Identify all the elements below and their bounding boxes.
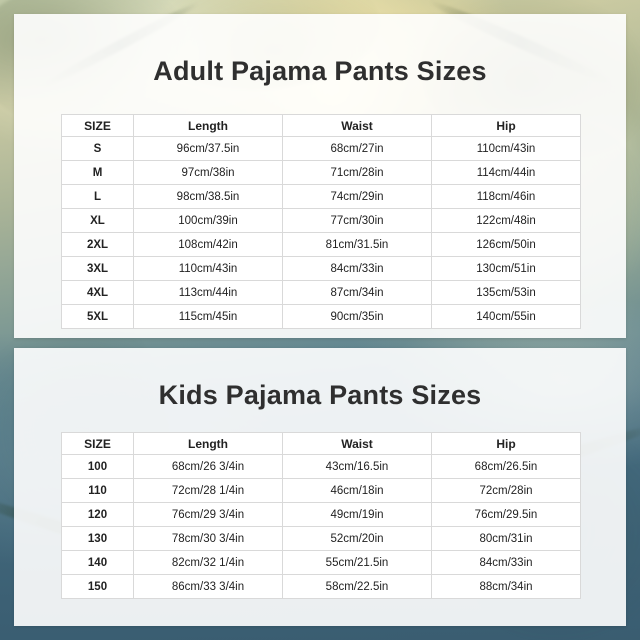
cell-length: 76cm/29 3/4in [134,503,283,527]
cell-size: 2XL [62,233,134,257]
adult-panel-title: Adult Pajama Pants Sizes [14,56,626,87]
kids-panel-title: Kids Pajama Pants Sizes [14,380,626,411]
cell-size: 110 [62,479,134,503]
cell-length: 98cm/38.5in [134,185,283,209]
cell-length: 82cm/32 1/4in [134,551,283,575]
adult-size-panel: Adult Pajama Pants Sizes SIZE Length Wai… [14,14,626,338]
cell-waist: 43cm/16.5in [283,455,432,479]
cell-size: 4XL [62,281,134,305]
column-header-size: SIZE [62,115,134,137]
column-header-size: SIZE [62,433,134,455]
table-row: L 98cm/38.5in 74cm/29in 118cm/46in [62,185,581,209]
cell-length: 108cm/42in [134,233,283,257]
cell-waist: 46cm/18in [283,479,432,503]
table-row: 150 86cm/33 3/4in 58cm/22.5in 88cm/34in [62,575,581,599]
column-header-waist: Waist [283,115,432,137]
cell-size: M [62,161,134,185]
cell-waist: 74cm/29in [283,185,432,209]
cell-length: 113cm/44in [134,281,283,305]
cell-size: 140 [62,551,134,575]
table-row: 130 78cm/30 3/4in 52cm/20in 80cm/31in [62,527,581,551]
column-header-hip: Hip [432,433,581,455]
cell-length: 78cm/30 3/4in [134,527,283,551]
table-row: 4XL 113cm/44in 87cm/34in 135cm/53in [62,281,581,305]
cell-size: L [62,185,134,209]
cell-hip: 80cm/31in [432,527,581,551]
cell-size: 5XL [62,305,134,329]
cell-hip: 88cm/34in [432,575,581,599]
cell-waist: 90cm/35in [283,305,432,329]
size-chart-page: Adult Pajama Pants Sizes SIZE Length Wai… [0,0,640,640]
table-row: 120 76cm/29 3/4in 49cm/19in 76cm/29.5in [62,503,581,527]
cell-waist: 55cm/21.5in [283,551,432,575]
table-row: 110 72cm/28 1/4in 46cm/18in 72cm/28in [62,479,581,503]
cell-length: 97cm/38in [134,161,283,185]
cell-hip: 72cm/28in [432,479,581,503]
table-row: XL 100cm/39in 77cm/30in 122cm/48in [62,209,581,233]
column-header-length: Length [134,115,283,137]
table-row: S 96cm/37.5in 68cm/27in 110cm/43in [62,137,581,161]
cell-waist: 52cm/20in [283,527,432,551]
table-row: 5XL 115cm/45in 90cm/35in 140cm/55in [62,305,581,329]
table-row: 2XL 108cm/42in 81cm/31.5in 126cm/50in [62,233,581,257]
cell-length: 110cm/43in [134,257,283,281]
cell-waist: 49cm/19in [283,503,432,527]
table-row: M 97cm/38in 71cm/28in 114cm/44in [62,161,581,185]
cell-length: 72cm/28 1/4in [134,479,283,503]
cell-length: 100cm/39in [134,209,283,233]
cell-hip: 84cm/33in [432,551,581,575]
kids-size-panel: Kids Pajama Pants Sizes SIZE Length Wais… [14,348,626,626]
adult-size-table: SIZE Length Waist Hip S 96cm/37.5in 68cm… [61,114,581,329]
cell-size: 150 [62,575,134,599]
cell-size: 3XL [62,257,134,281]
cell-length: 115cm/45in [134,305,283,329]
cell-hip: 118cm/46in [432,185,581,209]
cell-hip: 68cm/26.5in [432,455,581,479]
cell-size: XL [62,209,134,233]
table-header-row: SIZE Length Waist Hip [62,115,581,137]
cell-hip: 130cm/51in [432,257,581,281]
cell-waist: 87cm/34in [283,281,432,305]
kids-size-table: SIZE Length Waist Hip 100 68cm/26 3/4in … [61,432,581,599]
cell-hip: 122cm/48in [432,209,581,233]
column-header-waist: Waist [283,433,432,455]
cell-hip: 135cm/53in [432,281,581,305]
table-header-row: SIZE Length Waist Hip [62,433,581,455]
cell-hip: 114cm/44in [432,161,581,185]
cell-hip: 126cm/50in [432,233,581,257]
table-row: 3XL 110cm/43in 84cm/33in 130cm/51in [62,257,581,281]
cell-waist: 58cm/22.5in [283,575,432,599]
cell-waist: 71cm/28in [283,161,432,185]
column-header-hip: Hip [432,115,581,137]
cell-length: 96cm/37.5in [134,137,283,161]
cell-size: 130 [62,527,134,551]
cell-size: S [62,137,134,161]
cell-waist: 84cm/33in [283,257,432,281]
column-header-length: Length [134,433,283,455]
cell-hip: 110cm/43in [432,137,581,161]
cell-length: 86cm/33 3/4in [134,575,283,599]
cell-length: 68cm/26 3/4in [134,455,283,479]
cell-waist: 68cm/27in [283,137,432,161]
cell-size: 120 [62,503,134,527]
cell-waist: 81cm/31.5in [283,233,432,257]
cell-size: 100 [62,455,134,479]
cell-waist: 77cm/30in [283,209,432,233]
cell-hip: 76cm/29.5in [432,503,581,527]
cell-hip: 140cm/55in [432,305,581,329]
table-row: 140 82cm/32 1/4in 55cm/21.5in 84cm/33in [62,551,581,575]
table-row: 100 68cm/26 3/4in 43cm/16.5in 68cm/26.5i… [62,455,581,479]
